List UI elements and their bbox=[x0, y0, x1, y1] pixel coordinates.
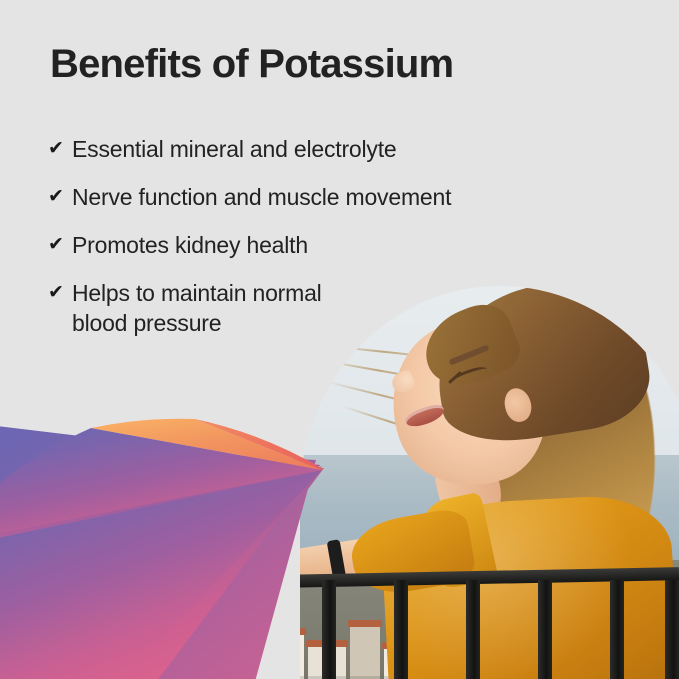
check-icon: ✔ bbox=[48, 230, 72, 260]
benefit-label: Helps to maintain normal blood pressure bbox=[72, 278, 322, 338]
list-item: ✔ Nerve function and muscle movement bbox=[48, 182, 648, 212]
benefits-list: ✔ Essential mineral and electrolyte ✔ Ne… bbox=[48, 134, 648, 356]
check-icon: ✔ bbox=[48, 278, 72, 308]
list-item: ✔ Essential mineral and electrolyte bbox=[48, 134, 648, 164]
list-item: ✔ Promotes kidney health bbox=[48, 230, 648, 260]
benefit-label: Essential mineral and electrolyte bbox=[72, 134, 397, 164]
page-title: Benefits of Potassium bbox=[50, 42, 453, 86]
poster-content: Benefits of Potassium ✔ Essential minera… bbox=[0, 0, 679, 679]
benefit-label: Nerve function and muscle movement bbox=[72, 182, 451, 212]
check-icon: ✔ bbox=[48, 182, 72, 212]
benefit-label: Promotes kidney health bbox=[72, 230, 308, 260]
check-icon: ✔ bbox=[48, 134, 72, 164]
list-item: ✔ Helps to maintain normal blood pressur… bbox=[48, 278, 648, 338]
potassium-benefits-poster: Benefits of Potassium ✔ Essential minera… bbox=[0, 0, 679, 679]
